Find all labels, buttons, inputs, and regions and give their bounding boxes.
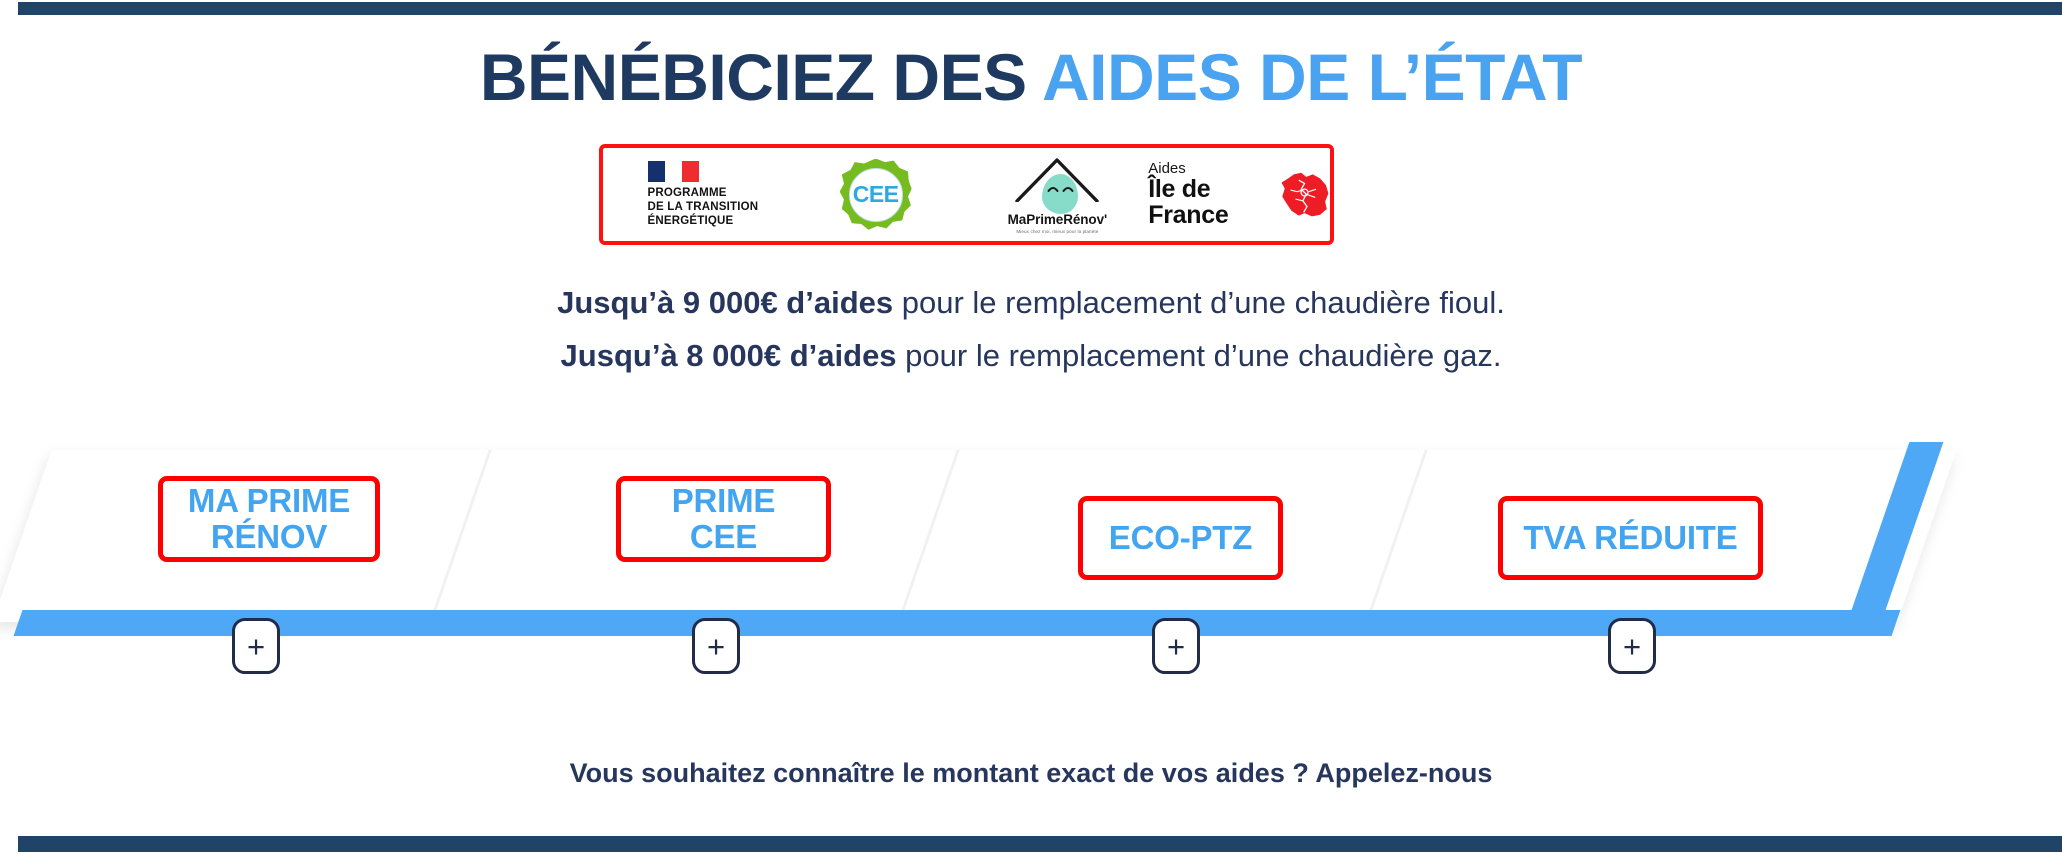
top-divider-bar bbox=[18, 2, 2062, 15]
logo-cee: CEE bbox=[785, 148, 967, 241]
aid-expand-button-ma-prime-renov[interactable]: + bbox=[232, 618, 280, 674]
aid-card-prime-cee[interactable]: PRIME CEE bbox=[616, 476, 831, 562]
aids-cards: MA PRIME RÉNOV + PRIME CEE + ECO-PTZ + T… bbox=[0, 432, 2062, 662]
smiling-eyes-icon bbox=[1047, 184, 1074, 194]
aid-amount-line-1: Jusqu’à 9 000€ d’aides pour le remplacem… bbox=[0, 276, 2062, 329]
plus-icon-1: + bbox=[707, 631, 725, 662]
pte-line-3: ÉNERGÉTIQUE bbox=[648, 214, 759, 228]
page-title: BÉNÉBICIEZ DES AIDES DE L’ÉTAT bbox=[0, 44, 2062, 110]
aid-card-label-1: PRIME CEE bbox=[672, 483, 776, 554]
aid-expand-button-tva-reduite[interactable]: + bbox=[1608, 618, 1656, 674]
call-cta-text: Vous souhaitez connaître le montant exac… bbox=[0, 758, 2062, 789]
aid-card-tva-reduite[interactable]: TVA RÉDUITE bbox=[1498, 496, 1763, 580]
plus-icon-3: + bbox=[1623, 631, 1641, 662]
aid-card-label-3: TVA RÉDUITE bbox=[1523, 520, 1737, 556]
aid-card-label-2: ECO-PTZ bbox=[1109, 520, 1252, 556]
maprimerenov-label: MaPrimeRénov' bbox=[1008, 212, 1107, 227]
aid-amount-lines: Jusqu’à 9 000€ d’aides pour le remplacem… bbox=[0, 276, 2062, 382]
aid-card-label-0: MA PRIME RÉNOV bbox=[188, 483, 350, 554]
french-flag-icon bbox=[648, 161, 700, 182]
pte-line-1: PROGRAMME bbox=[648, 186, 759, 200]
idf-big-label: Île de France bbox=[1148, 176, 1271, 228]
ile-de-france-map-icon bbox=[1279, 167, 1330, 223]
aid-expand-button-prime-cee[interactable]: + bbox=[692, 618, 740, 674]
partner-logo-strip: PROGRAMME DE LA TRANSITION ÉNERGÉTIQUE C… bbox=[599, 144, 1334, 245]
aid-amount-rest-2: pour le remplacement d’une chaudière gaz… bbox=[897, 338, 1502, 373]
aid-amount-bold-2: Jusqu’à 8 000€ d’aides bbox=[561, 338, 897, 373]
plus-icon-2: + bbox=[1167, 631, 1185, 662]
aid-card-ma-prime-renov[interactable]: MA PRIME RÉNOV bbox=[158, 476, 380, 562]
page-title-dark-part: BÉNÉBICIEZ DES bbox=[480, 40, 1042, 114]
logo-programme-transition-energetique: PROGRAMME DE LA TRANSITION ÉNERGÉTIQUE bbox=[603, 148, 785, 241]
aids-band: MA PRIME RÉNOV + PRIME CEE + ECO-PTZ + T… bbox=[0, 432, 2062, 662]
aid-amount-bold-1: Jusqu’à 9 000€ d’aides bbox=[557, 285, 893, 320]
maprimerenov-tagline: Mieux chez moi, mieux pour la planète bbox=[1016, 229, 1098, 234]
page-title-blue-part: AIDES DE L’ÉTAT bbox=[1042, 40, 1582, 114]
logo-aides-ile-de-france: Aides Île de France bbox=[1148, 148, 1330, 241]
idf-small-label: Aides bbox=[1148, 161, 1186, 177]
aid-expand-button-eco-ptz[interactable]: + bbox=[1152, 618, 1200, 674]
pte-line-2: DE LA TRANSITION bbox=[648, 200, 759, 214]
plus-icon-0: + bbox=[247, 631, 265, 662]
aid-amount-rest-1: pour le remplacement d’une chaudière fio… bbox=[893, 285, 1505, 320]
bottom-divider-bar bbox=[18, 836, 2062, 852]
aid-card-eco-ptz[interactable]: ECO-PTZ bbox=[1078, 496, 1283, 580]
cee-label: CEE bbox=[853, 181, 899, 208]
logo-maprimerenov: MaPrimeRénov' Mieux chez moi, mieux pour… bbox=[967, 148, 1149, 241]
aid-amount-line-2: Jusqu’à 8 000€ d’aides pour le remplacem… bbox=[0, 329, 2062, 382]
